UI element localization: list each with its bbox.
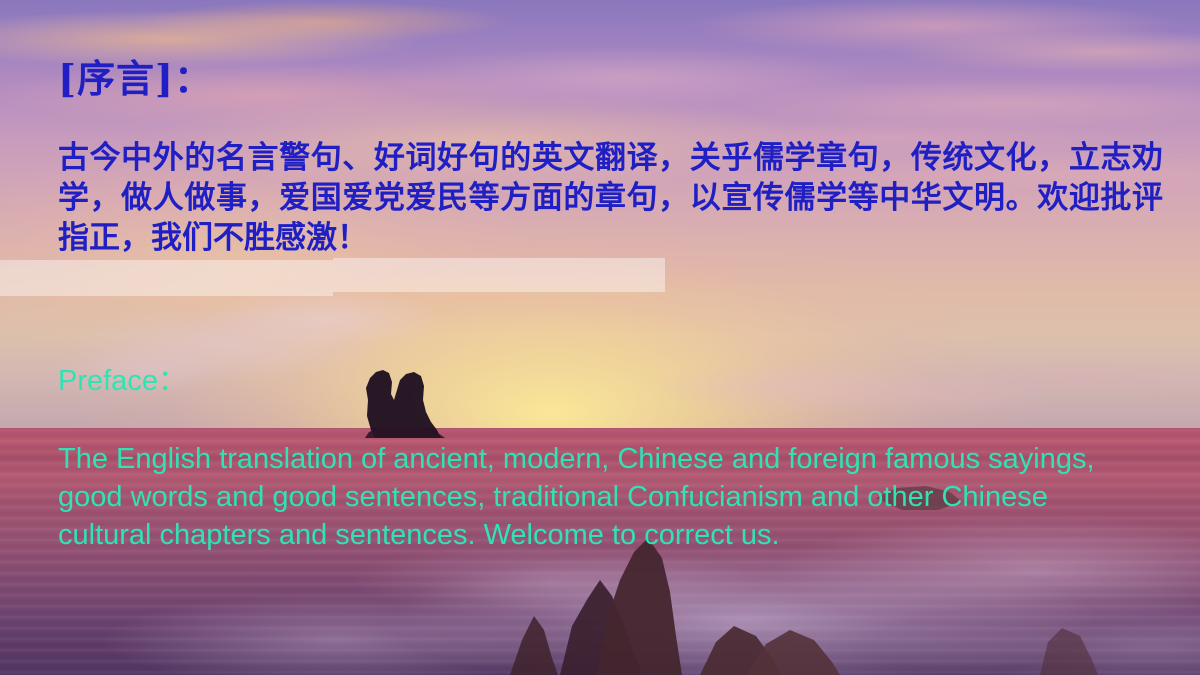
chinese-body-text: 古今中外的名言警句、好词好句的英文翻译，关乎儒学章句，传统文化，立志劝学，做人做… bbox=[58, 138, 1163, 258]
overlay-band-left bbox=[0, 260, 333, 296]
chinese-title: [序言]： bbox=[58, 48, 213, 103]
english-title: Preface： bbox=[58, 357, 187, 399]
english-body-text: The English translation of ancient, mode… bbox=[58, 440, 1118, 554]
sea-stack-rock-icon bbox=[345, 360, 465, 438]
overlay-band-right bbox=[333, 258, 665, 292]
slide-canvas: [序言]： 古今中外的名言警句、好词好句的英文翻译，关乎儒学章句，传统文化，立志… bbox=[0, 0, 1200, 675]
